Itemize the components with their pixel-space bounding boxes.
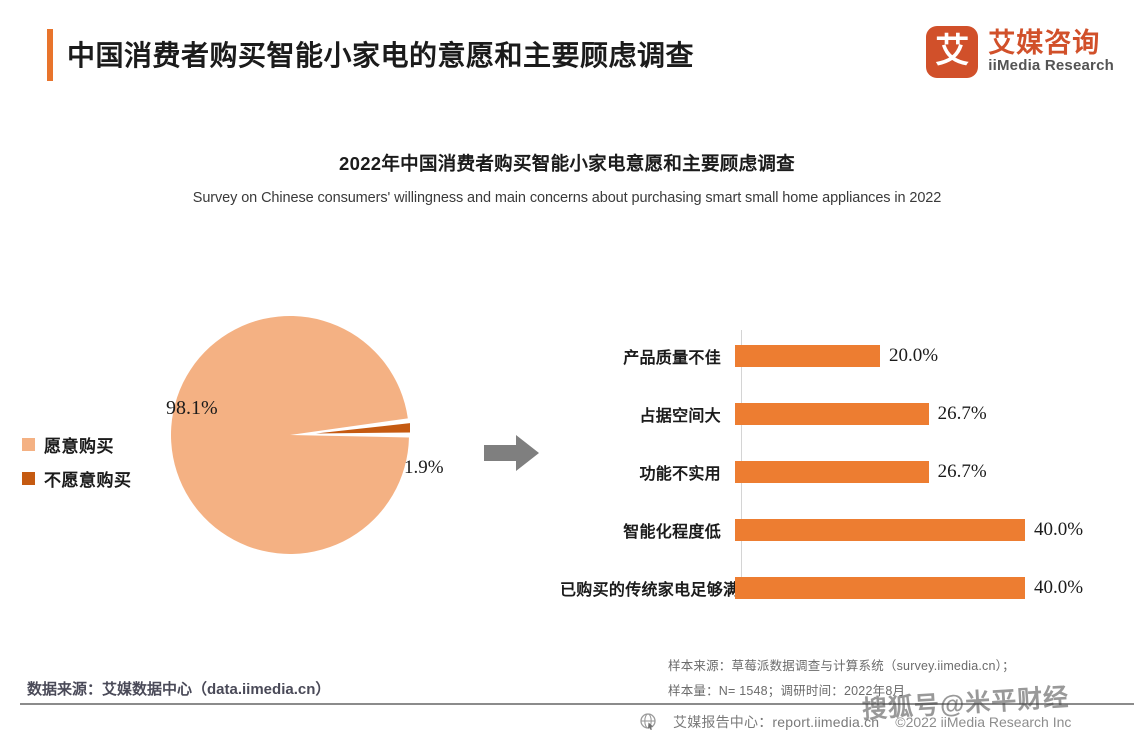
- pie-label-willing: 98.1%: [166, 397, 218, 420]
- divider-right: [620, 703, 1134, 705]
- logo-text: 艾媒咨询 iiMedia Research: [988, 29, 1114, 75]
- chart-subtitle: Survey on Chinese consumers' willingness…: [0, 190, 1134, 206]
- globe-cursor-icon: [640, 713, 657, 730]
- chart-title: 2022年中国消费者购买智能小家电意愿和主要顾虑调查: [0, 150, 1134, 176]
- bar-value-label: 20.0%: [889, 345, 938, 367]
- footnote-sample-source: 样本来源：草莓派数据调查与计算系统（survey.iimedia.cn）；: [668, 655, 1015, 674]
- bar-category-label: 已购买的传统家电足够满足需求: [560, 576, 735, 600]
- bar-fill: [735, 461, 929, 483]
- bar-category-label: 智能化程度低: [560, 518, 735, 542]
- footnote-sample-size: 样本量：N= 1548；调研时间：2022年8月: [668, 680, 905, 699]
- pie-slice-willing: [171, 316, 409, 554]
- bar-category-label: 占据空间大: [560, 402, 735, 426]
- pie-chart: [170, 315, 410, 555]
- arrow-right-icon: [484, 435, 540, 476]
- bar-row: 智能化程度低40.0%: [560, 515, 1120, 545]
- logo-name-en: iiMedia Research: [988, 58, 1114, 75]
- bar-value-label: 26.7%: [938, 461, 987, 483]
- bar-fill: [735, 345, 880, 367]
- report-slide: 中国消费者购买智能小家电的意愿和主要顾虑调查 艾 艾媒咨询 iiMedia Re…: [0, 0, 1134, 737]
- header-accent-bar: [47, 29, 53, 81]
- legend-label-unwilling: 不愿意购买: [44, 466, 132, 491]
- bar-fill: [735, 577, 1025, 599]
- bar-fill: [735, 519, 1025, 541]
- bar-category-label: 功能不实用: [560, 460, 735, 484]
- bar-value-label: 40.0%: [1034, 519, 1083, 541]
- report-center-link[interactable]: 艾媒报告中心：report.iimedia.cn: [673, 712, 879, 732]
- bar-row: 功能不实用26.7%: [560, 457, 1120, 487]
- copyright-text: ©2022 iiMedia Research Inc: [895, 714, 1071, 730]
- pie-chart-svg: [170, 315, 410, 555]
- legend-swatch-icon: [22, 438, 35, 451]
- bar-category-label: 产品质量不佳: [560, 344, 735, 368]
- legend-item-unwilling: 不愿意购买: [22, 466, 132, 491]
- bar-chart: 产品质量不佳20.0%占据空间大26.7%功能不实用26.7%智能化程度低40.…: [560, 330, 1120, 592]
- bar-row: 产品质量不佳20.0%: [560, 341, 1120, 371]
- page-title: 中国消费者购买智能小家电的意愿和主要顾虑调查: [67, 34, 694, 74]
- logo-name-cn: 艾媒咨询: [988, 29, 1114, 57]
- logo-mark-icon: 艾: [926, 26, 978, 78]
- bar-row: 已购买的传统家电足够满足需求40.0%: [560, 573, 1120, 603]
- legend-swatch-icon: [22, 472, 35, 485]
- bar-value-label: 40.0%: [1034, 577, 1083, 599]
- divider-left: [20, 703, 620, 705]
- legend-label-willing: 愿意购买: [44, 432, 114, 457]
- pie-label-unwilling: 1.9%: [404, 457, 444, 479]
- legend-item-willing: 愿意购买: [22, 432, 132, 457]
- brand-logo: 艾 艾媒咨询 iiMedia Research: [926, 26, 1114, 78]
- header: 中国消费者购买智能小家电的意愿和主要顾虑调查 艾 艾媒咨询 iiMedia Re…: [0, 0, 1134, 108]
- status-bar: 艾媒报告中心：report.iimedia.cn ©2022 iiMedia R…: [0, 706, 1134, 737]
- bar-fill: [735, 403, 929, 425]
- data-source-label: 数据来源：艾媒数据中心（data.iimedia.cn）: [27, 678, 330, 699]
- bar-value-label: 26.7%: [938, 403, 987, 425]
- bar-row: 占据空间大26.7%: [560, 399, 1120, 429]
- pie-legend: 愿意购买 不愿意购买: [22, 432, 132, 500]
